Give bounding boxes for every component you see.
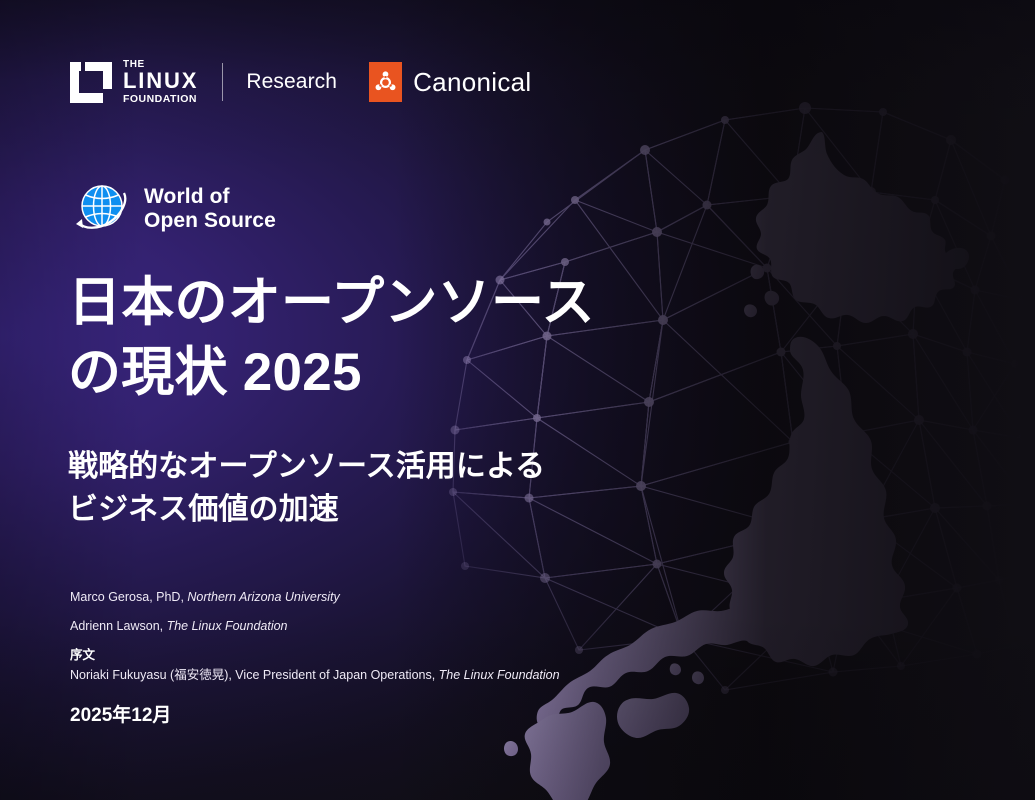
logo-row: THE LINUX FOUNDATION Research bbox=[70, 60, 532, 104]
globe-orbit-icon bbox=[70, 178, 132, 240]
foreword-author: Noriaki Fukuyasu (福安徳晃), Vice President … bbox=[70, 668, 610, 684]
author-name: Adrienn Lawson, bbox=[70, 619, 167, 633]
author-affiliation: The Linux Foundation bbox=[167, 619, 288, 633]
author-entry: Marco Gerosa, PhD, Northern Arizona Univ… bbox=[70, 591, 610, 604]
author-affiliation: Northern Arizona University bbox=[187, 590, 339, 604]
foreword-author-name: Noriaki Fukuyasu (福安徳晃), Vice President … bbox=[70, 668, 439, 682]
ubuntu-circle-of-friends-icon bbox=[374, 71, 397, 94]
lf-product-research: Research bbox=[246, 70, 337, 94]
linux-foundation-mark-icon bbox=[70, 62, 112, 103]
world-of-open-source-wordmark: World of Open Source bbox=[144, 185, 276, 233]
canonical-logo: Canonical bbox=[369, 62, 531, 102]
logo-divider bbox=[222, 63, 223, 101]
canonical-wordmark: Canonical bbox=[413, 67, 531, 98]
author-entry: Adrienn Lawson, The Linux Foundation bbox=[70, 620, 610, 633]
page-subtitle-line-1: 戦略的なオープンソース活用による bbox=[68, 446, 628, 489]
page-subtitle: 戦略的なオープンソース活用による ビジネス価値の加速 bbox=[68, 446, 628, 532]
publication-date: 2025年12月 bbox=[70, 705, 610, 728]
page-subtitle-line-2: ビジネス価値の加速 bbox=[68, 489, 628, 532]
cover-page: THE LINUX FOUNDATION Research bbox=[0, 0, 1035, 800]
cover-content: THE LINUX FOUNDATION Research bbox=[0, 0, 640, 800]
linux-foundation-wordmark: THE LINUX FOUNDATION bbox=[123, 60, 198, 104]
world-of-open-source-logo: World of Open Source bbox=[70, 178, 276, 240]
lf-line-foundation: FOUNDATION bbox=[123, 94, 198, 105]
foreword-author-affiliation: The Linux Foundation bbox=[439, 668, 560, 682]
page-title-line-1: 日本のオープンソース bbox=[68, 268, 628, 338]
foreword-label: 序文 bbox=[70, 648, 610, 663]
page-title-line-2: の現状 2025 bbox=[68, 338, 628, 408]
canonical-badge bbox=[369, 62, 402, 102]
linux-foundation-research-logo: THE LINUX FOUNDATION Research bbox=[70, 60, 337, 104]
lf-line-linux: LINUX bbox=[123, 71, 198, 92]
wos-line-1: World of bbox=[144, 185, 276, 209]
page-title: 日本のオープンソース の現状 2025 bbox=[68, 268, 628, 409]
author-name: Marco Gerosa, PhD, bbox=[70, 590, 187, 604]
credits-block: Marco Gerosa, PhD, Northern Arizona Univ… bbox=[70, 591, 610, 727]
wos-line-2: Open Source bbox=[144, 209, 276, 233]
